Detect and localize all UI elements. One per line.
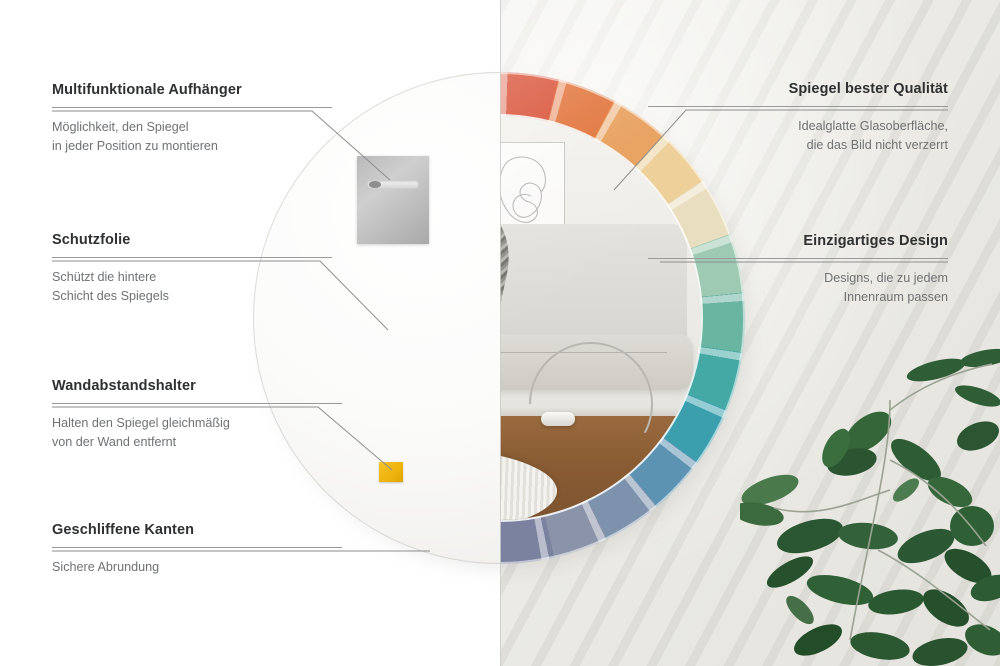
- callout-wandabstandshalter: Wandabstandshalter Halten den Spiegel gl…: [52, 378, 342, 451]
- callout-title: Wandabstandshalter: [52, 378, 342, 394]
- wall-spacer-marker: [379, 462, 403, 482]
- callout-body: Halten den Spiegel gleichmäßig von der W…: [52, 414, 342, 451]
- callout-title: Spiegel bester Qualität: [648, 81, 948, 97]
- infographic-canvas: Multifunktionale Aufhänger Möglichkeit, …: [0, 0, 1000, 666]
- callout-spiegel-bester-qualitaet: Spiegel bester Qualität Idealglatte Glas…: [648, 81, 948, 154]
- callout-title: Multifunktionale Aufhänger: [52, 82, 332, 98]
- callout-rule: [52, 403, 342, 404]
- callout-body: Designs, die zu jedem Innenraum passen: [648, 269, 948, 306]
- hanger-keyhole: [369, 181, 381, 188]
- callout-title: Schutzfolie: [52, 232, 332, 248]
- callout-body: Möglichkeit, den Spiegel in jeder Positi…: [52, 118, 332, 155]
- callout-title: Geschliffene Kanten: [52, 522, 342, 538]
- callout-body: Schützt die hintere Schicht des Spiegels: [52, 268, 332, 305]
- callout-body: Idealglatte Glasoberfläche, die das Bild…: [648, 117, 948, 154]
- callout-einzigartiges-design: Einzigartiges Design Designs, die zu jed…: [648, 233, 948, 306]
- foliage-decoration: [740, 340, 1000, 666]
- callout-geschliffene-kanten: Geschliffene Kanten Sichere Abrundung: [52, 522, 342, 577]
- panel-split-line: [500, 0, 501, 666]
- line-art-face-icon: [493, 152, 555, 234]
- callout-rule: [648, 258, 948, 259]
- reflected-lamp-head: [541, 412, 575, 426]
- callout-body: Sichere Abrundung: [52, 558, 342, 577]
- callout-schutzfolie: Schutzfolie Schützt die hintere Schicht …: [52, 232, 332, 305]
- hanger-plate-marker: [357, 156, 429, 244]
- callout-rule: [52, 257, 332, 258]
- callout-rule: [52, 107, 332, 108]
- callout-rule: [52, 547, 342, 548]
- callout-title: Einzigartiges Design: [648, 233, 948, 249]
- callout-multifunktionale-aufhaenger: Multifunktionale Aufhänger Möglichkeit, …: [52, 82, 332, 155]
- callout-rule: [648, 106, 948, 107]
